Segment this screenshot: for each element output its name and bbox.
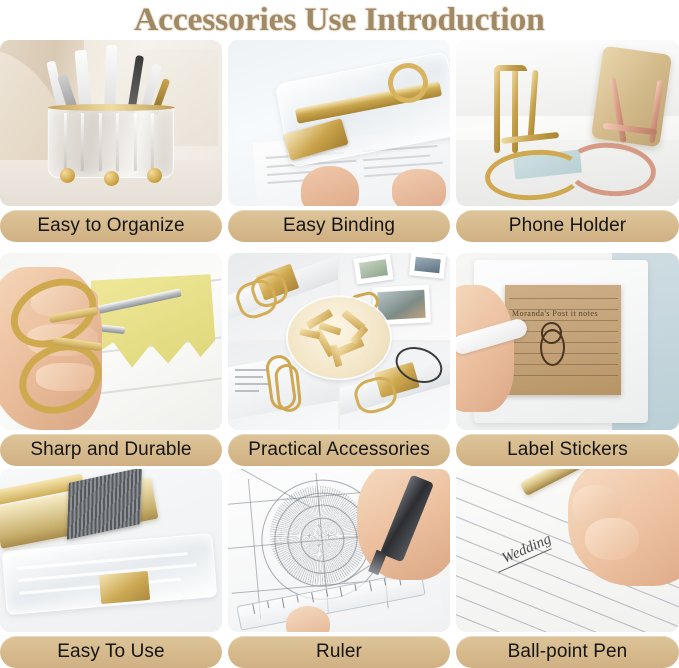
open-stapler-scene	[0, 469, 222, 632]
page-title-wrap: Accessories Use Introduction	[0, 0, 679, 40]
clips-closeup-inset	[288, 297, 390, 378]
phone-holder-scene	[456, 40, 679, 206]
caption-easy-to-organize: Easy to Organize	[0, 210, 222, 242]
feature-cell-phone-holder: Phone Holder	[456, 40, 679, 250]
caption-easy-binding: Easy Binding	[228, 210, 450, 242]
binding-scene	[228, 40, 450, 206]
caption-practical-accessories: Practical Accessories	[228, 434, 450, 466]
finger	[585, 518, 639, 560]
feature-cell-easy-binding: Easy Binding	[228, 40, 450, 250]
jar-foot	[60, 168, 75, 183]
note-doodle	[541, 322, 562, 344]
writing-scene: Wedding	[456, 469, 679, 632]
caption-ruler: Ruler	[228, 636, 450, 668]
feature-cell-ball-point-pen: Wedding Ball-point Pen	[456, 469, 679, 668]
photo-sharp-and-durable	[0, 253, 222, 430]
feature-cell-label-stickers: Moranda's Post it notes Label Stickers	[456, 253, 679, 466]
feature-cell-practical-accessories: Practical Accessories	[228, 253, 450, 466]
product-infographic: Accessories Use Introduction	[0, 0, 679, 667]
photo-card	[354, 254, 395, 285]
caption-sharp-and-durable: Sharp and Durable	[0, 434, 222, 466]
caption-label-stickers: Label Stickers	[456, 434, 679, 466]
photo-label-stickers: Moranda's Post it notes	[456, 253, 679, 430]
drafting-scene	[228, 469, 450, 632]
note-handwriting: Moranda's Post it notes	[512, 309, 598, 318]
jar-foot	[147, 168, 162, 183]
photo-phone-holder	[456, 40, 679, 206]
feature-cell-ruler: Ruler	[228, 469, 450, 668]
feature-grid: Easy to Organize	[0, 40, 679, 668]
jar-gold-rim	[48, 104, 175, 111]
finger	[392, 169, 445, 206]
photo-easy-to-use	[0, 469, 222, 632]
photo-card	[409, 253, 447, 279]
finger	[301, 166, 359, 206]
page-title: Accessories Use Introduction	[134, 2, 545, 39]
photo-easy-to-organize	[0, 40, 222, 206]
photo-easy-binding	[228, 40, 450, 206]
photo-practical-accessories	[228, 253, 450, 430]
caption-ball-point-pen: Ball-point Pen	[456, 636, 679, 668]
photo-ball-point-pen: Wedding	[456, 469, 679, 632]
label-sticker-scene: Moranda's Post it notes	[456, 253, 679, 430]
accessories-collage	[228, 253, 450, 430]
kraft-sticky-note-pad: Moranda's Post it notes	[505, 285, 621, 395]
feature-cell-sharp-and-durable: Sharp and Durable	[0, 253, 222, 466]
caption-easy-to-use: Easy To Use	[0, 636, 222, 668]
feature-cell-easy-to-use: Easy To Use	[0, 469, 222, 668]
scissors-scene	[0, 253, 222, 430]
caption-phone-holder: Phone Holder	[456, 210, 679, 242]
feature-cell-easy-to-organize: Easy to Organize	[0, 40, 222, 250]
photo-ruler	[228, 469, 450, 632]
brush-holder-scene	[0, 40, 222, 206]
stapler-gold-plate	[99, 571, 150, 604]
